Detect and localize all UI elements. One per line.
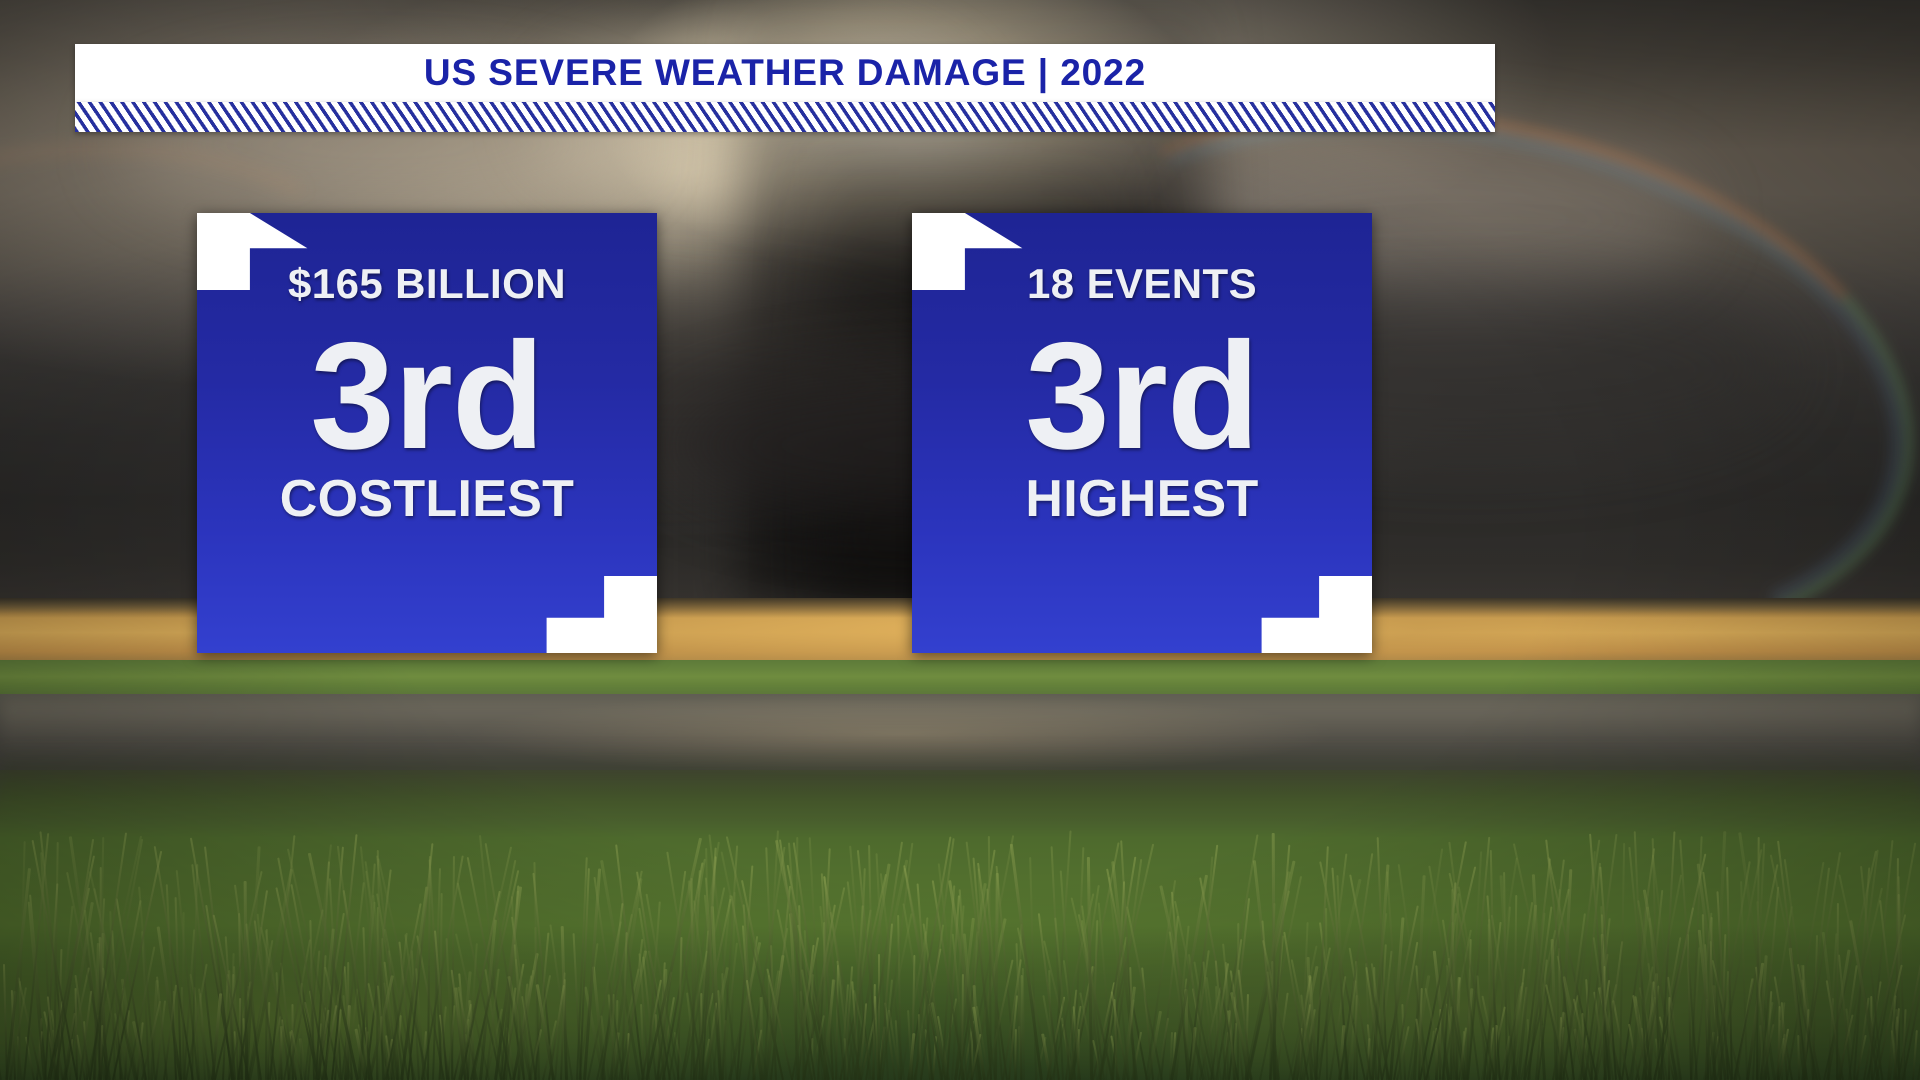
stat-kicker: $165 BILLION [288,263,566,305]
panel-content: $165 BILLION 3rd COSTLIEST [197,213,657,653]
panel-content: 18 EVENTS 3rd HIGHEST [912,213,1372,653]
stat-rank: 3rd [310,327,544,467]
stat-rank: 3rd [1025,327,1259,467]
page-title: US SEVERE WEATHER DAMAGE | 2022 [424,52,1146,94]
stat-sublabel: COSTLIEST [280,473,575,525]
grass-blades [0,740,1920,1080]
title-banner: US SEVERE WEATHER DAMAGE | 2022 [75,44,1495,132]
hatch-stripe-band [75,102,1495,132]
stat-kicker: 18 EVENTS [1027,263,1257,305]
stat-panel-events: 18 EVENTS 3rd HIGHEST [912,213,1372,653]
stat-sublabel: HIGHEST [1025,473,1258,525]
stat-panel-costliest: $165 BILLION 3rd COSTLIEST [197,213,657,653]
title-bar: US SEVERE WEATHER DAMAGE | 2022 [75,44,1495,102]
broadcast-graphic: US SEVERE WEATHER DAMAGE | 2022 $165 BIL… [0,0,1920,1080]
